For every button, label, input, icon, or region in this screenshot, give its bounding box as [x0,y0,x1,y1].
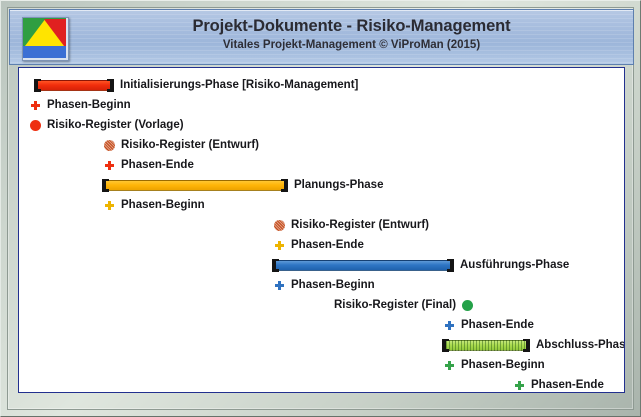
row-label: Initialisierungs-Phase [Risiko-Managemen… [120,76,358,94]
row-label: Phasen-Ende [121,156,194,174]
bar-body [38,80,110,91]
row-label: Phasen-Ende [531,376,604,393]
bar-bracket-left-icon [272,259,276,272]
milestone-cross-icon[interactable] [104,200,115,211]
header-band: Projekt-Dokumente - Risiko-Management Vi… [9,9,634,65]
milestone-sphere-icon[interactable] [274,220,285,231]
milestone-dot-icon[interactable] [462,300,473,311]
diagram-row-risiko-register-final[interactable]: Risiko-Register (Final) [334,296,473,314]
bar-body [276,260,450,271]
diagram-row-phasen-ende-4[interactable]: Phasen-Ende [514,376,604,393]
bar-bracket-left-icon [102,179,106,192]
row-label: Phasen-Ende [461,316,534,334]
diagram-row-phasen-ende-2[interactable]: Phasen-Ende [274,236,364,254]
bar-bracket-right-icon [284,179,288,192]
bar-body [446,340,526,351]
row-label: Phasen-Beginn [291,276,375,294]
viproman-logo [22,17,69,61]
row-label: Phasen-Beginn [47,96,131,114]
bar-bracket-right-icon [110,79,114,92]
diagram-row-phasen-beginn-1[interactable]: Phasen-Beginn [30,96,131,114]
diagram-row-planungs-phase[interactable]: Planungs-Phase [102,176,383,194]
row-label: Abschluss-Phase [536,336,625,354]
bar-bracket-left-icon [442,339,446,352]
row-label: Phasen-Beginn [461,356,545,374]
diagram-panel: Initialisierungs-Phase [Risiko-Managemen… [18,67,625,393]
diagram-row-risiko-register-vorlage[interactable]: Risiko-Register (Vorlage) [30,116,184,134]
milestone-cross-icon[interactable] [274,280,285,291]
diagram-row-phasen-beginn-2[interactable]: Phasen-Beginn [104,196,205,214]
application-window: Projekt-Dokumente - Risiko-Management Vi… [0,0,641,417]
title-block: Projekt-Dokumente - Risiko-Management Vi… [80,15,623,53]
row-label: Risiko-Register (Vorlage) [47,116,184,134]
milestone-cross-icon[interactable] [274,240,285,251]
bar-body [106,180,284,191]
bar-bracket-left-icon [34,79,38,92]
page-subtitle: Vitales Projekt-Management © ViProMan (2… [80,37,623,53]
diagram-row-phasen-ende-1[interactable]: Phasen-Ende [104,156,194,174]
phase-bar-initialisierungs-phase[interactable] [34,76,114,94]
row-label: Risiko-Register (Entwurf) [291,216,429,234]
bar-bracket-right-icon [450,259,454,272]
diagram-row-risiko-register-entwurf-1[interactable]: Risiko-Register (Entwurf) [104,136,259,154]
milestone-dot-icon[interactable] [30,120,41,131]
diagram-row-phasen-beginn-4[interactable]: Phasen-Beginn [444,356,545,374]
milestone-cross-icon[interactable] [444,360,455,371]
diagram-row-ausfuehrungs-phase[interactable]: Ausführungs-Phase [272,256,569,274]
diagram-row-phasen-beginn-3[interactable]: Phasen-Beginn [274,276,375,294]
phase-bar-planungs-phase[interactable] [102,176,288,194]
page-title: Projekt-Dokumente - Risiko-Management [80,15,623,37]
row-label: Risiko-Register (Entwurf) [121,136,259,154]
diagram-row-risiko-register-entwurf-2[interactable]: Risiko-Register (Entwurf) [274,216,429,234]
milestone-sphere-icon[interactable] [104,140,115,151]
milestone-cross-icon[interactable] [104,160,115,171]
row-label: Phasen-Beginn [121,196,205,214]
milestone-cross-icon[interactable] [444,320,455,331]
logo-icon [23,18,66,58]
phase-bar-abschluss-phase[interactable] [442,336,530,354]
diagram-row-phasen-ende-3[interactable]: Phasen-Ende [444,316,534,334]
milestone-cross-icon[interactable] [30,100,41,111]
row-label: Risiko-Register (Final) [334,296,456,314]
bar-bracket-right-icon [526,339,530,352]
phase-bar-ausfuehrungs-phase[interactable] [272,256,454,274]
row-label: Planungs-Phase [294,176,383,194]
row-label: Phasen-Ende [291,236,364,254]
diagram-row-abschluss-phase[interactable]: Abschluss-Phase [442,336,625,354]
milestone-cross-icon[interactable] [514,380,525,391]
row-label: Ausführungs-Phase [460,256,569,274]
diagram-row-initialisierungs-phase[interactable]: Initialisierungs-Phase [Risiko-Managemen… [34,76,358,94]
